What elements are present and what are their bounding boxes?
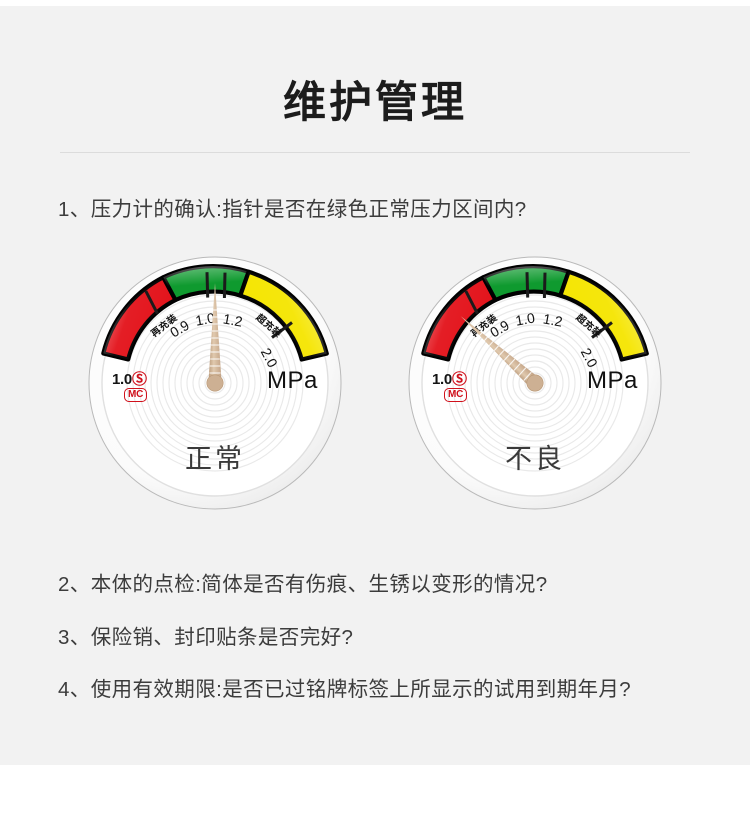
rating-value: 1.0 [432, 371, 452, 388]
title-divider [60, 152, 690, 153]
checklist-item-3: 3、保险销、封印贴条是否完好? [58, 620, 353, 650]
rating-value: 1.0 [112, 371, 132, 388]
checklist-item-2: 2、本体的点检:简体是否有伤痕、生锈以变形的情况? [58, 567, 548, 597]
unit-label-mpa: MPa [587, 367, 638, 395]
pressure-gauge-bad: 再充装 超充装 0.9 1.0 1.2 2.0 [407, 255, 663, 511]
rating-label: 1.0Ⓢ [432, 368, 467, 389]
pressure-gauge-normal: 再充装 超充装 0.9 1.0 1.2 2.0 [87, 255, 343, 511]
checklist-item-1: 1、压力计的确认:指针是否在绿色正常压力区间内? [58, 192, 527, 222]
page-root: 维护管理 1、压力计的确认:指针是否在绿色正常压力区间内? [0, 0, 750, 813]
cert-mark-mc: MC [124, 388, 147, 402]
content-canvas: 维护管理 1、压力计的确认:指针是否在绿色正常压力区间内? [0, 6, 750, 765]
tick-label-1-2: 1.2 [542, 311, 564, 330]
page-title: 维护管理 [0, 68, 750, 130]
gauge-caption-normal: 正常 [87, 437, 343, 476]
tick-label-1-2: 1.2 [222, 311, 244, 330]
unit-label-mpa: MPa [267, 367, 318, 395]
rating-s-mark: Ⓢ [132, 368, 147, 389]
tick-label-1-0: 1.0 [514, 309, 536, 328]
gauge-caption-bad: 不良 [407, 437, 663, 476]
rating-s-mark: Ⓢ [452, 368, 467, 389]
needle-hub [207, 375, 223, 391]
cert-mark-mc: MC [444, 388, 467, 402]
checklist-item-4: 4、使用有效期限:是否已过铭牌标签上所显示的试用到期年月? [58, 672, 631, 702]
rating-label: 1.0Ⓢ [112, 368, 147, 389]
